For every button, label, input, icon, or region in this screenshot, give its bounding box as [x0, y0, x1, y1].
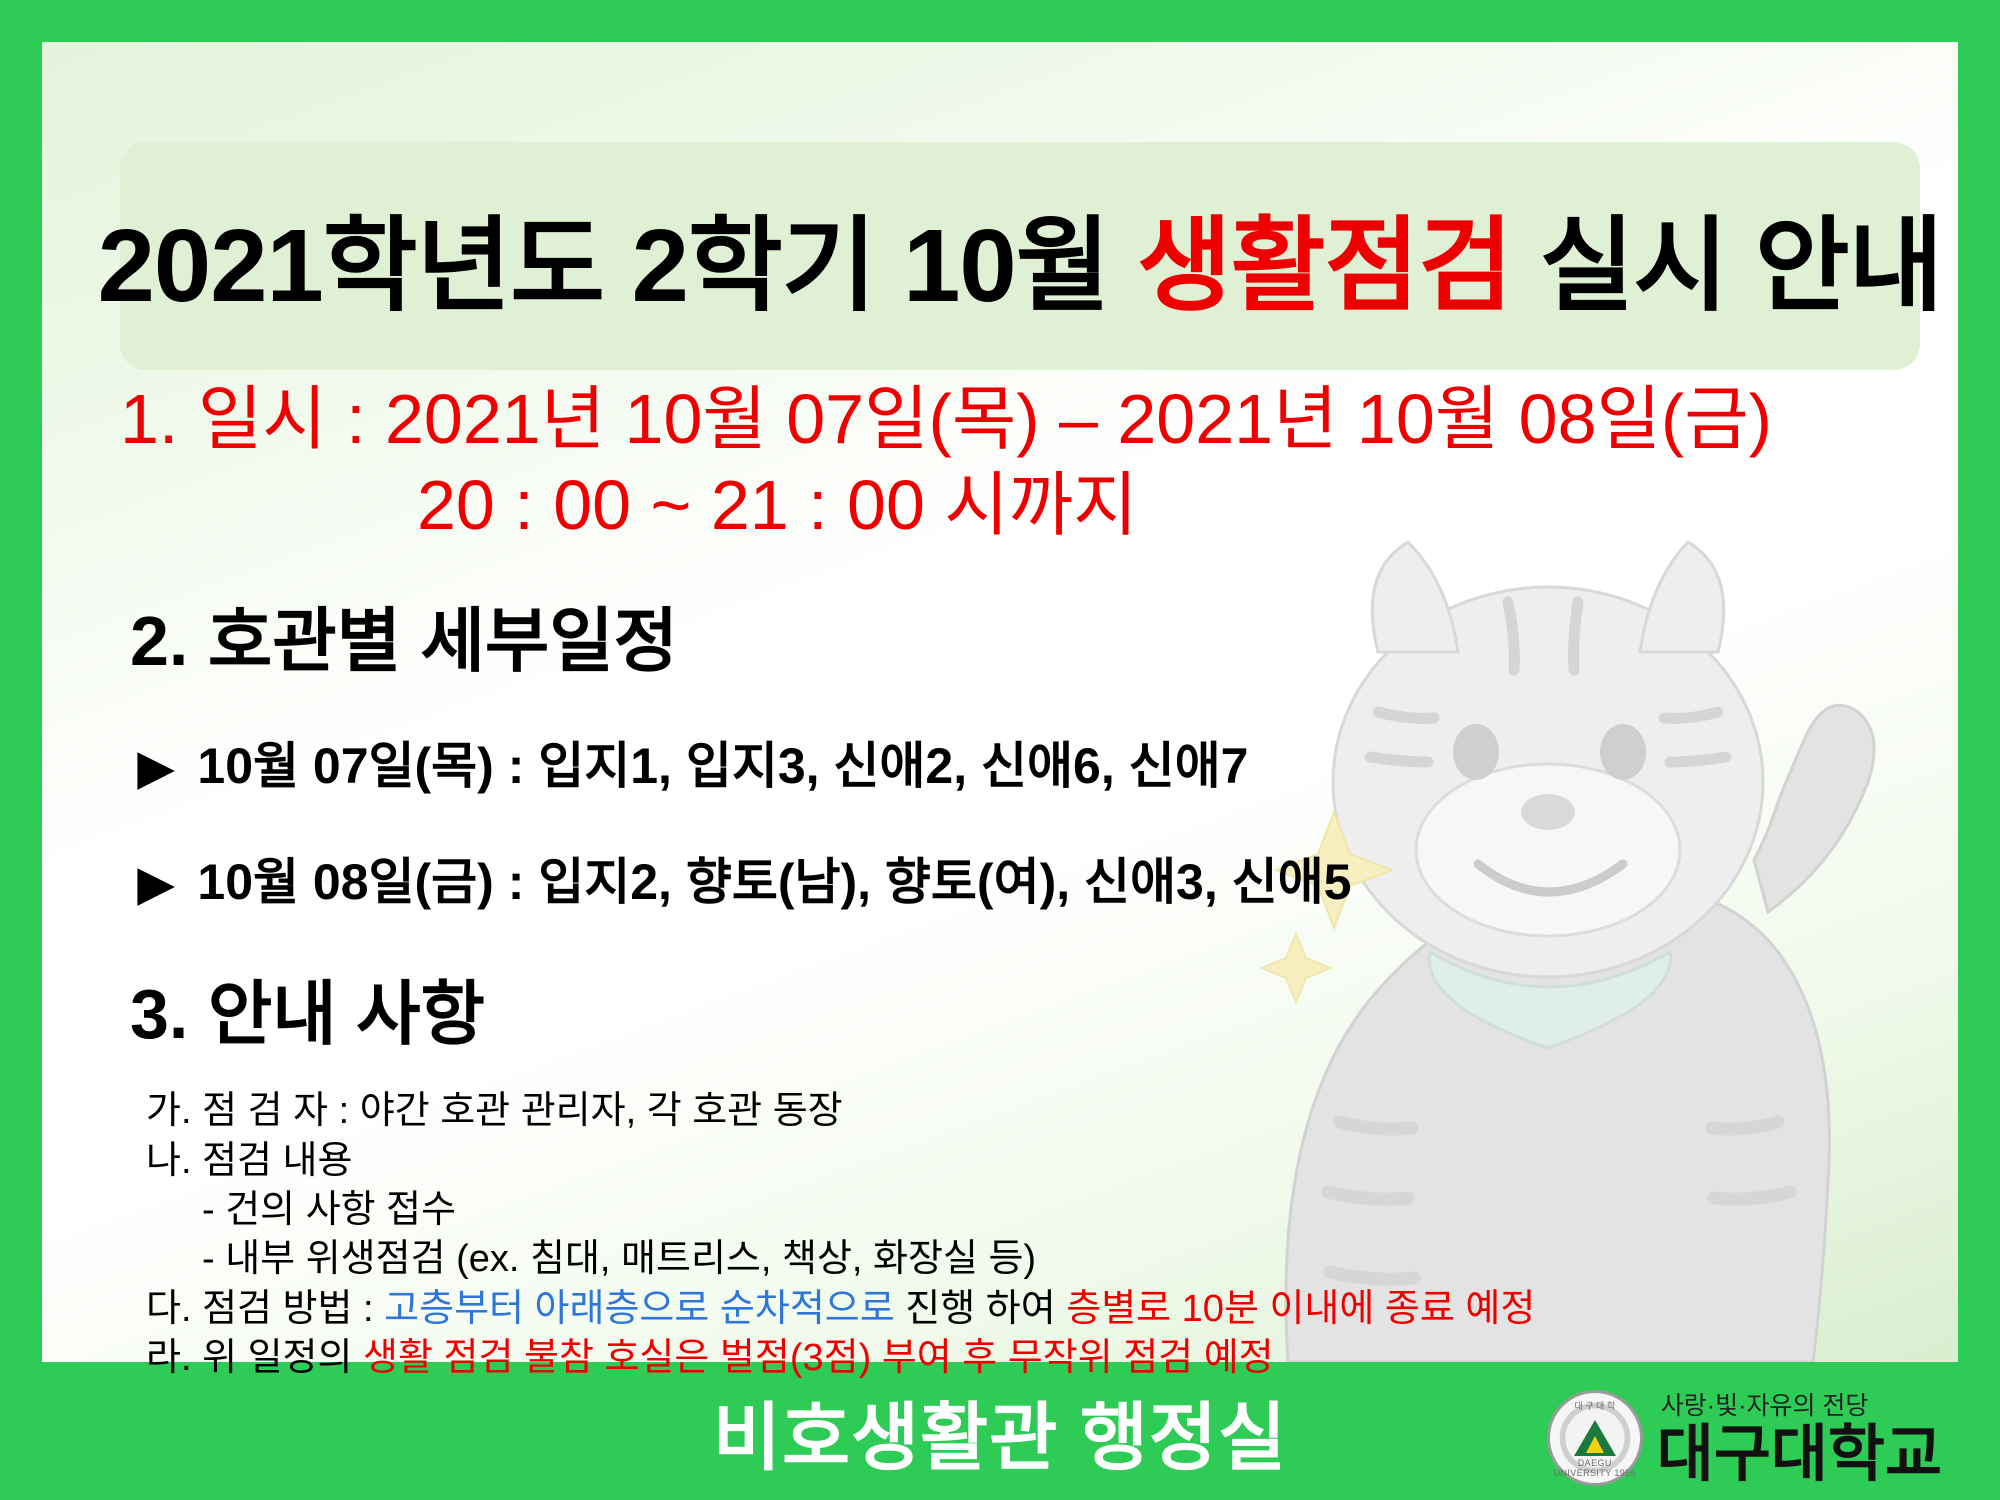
- section2-bullet-2-text: 10월 08일(금) : 입지2, 향토(남), 향토(여), 신애3, 신애5: [197, 842, 1351, 914]
- note-da-middle: 진행 하여: [895, 1288, 1067, 1330]
- seal-text-top: 대 구 대 학: [1550, 1399, 1640, 1412]
- note-na: 나. 점검 내용: [42, 1137, 1958, 1186]
- section1-line1: 1. 일시 : 2021년 10월 07일(목) – 2021년 10월 08일…: [42, 382, 1958, 458]
- note-ga: 가. 점 검 자 : 야간 호관 관리자, 각 호관 동장: [42, 1087, 1958, 1136]
- section3-notes: 가. 점 검 자 : 야간 호관 관리자, 각 호관 동장 나. 점검 내용 -…: [42, 1087, 1958, 1383]
- brand-tagline: 사랑·빛·자유의 전당: [1661, 1386, 1869, 1422]
- university-brand: 대 구 대 학 DAEGU UNIVERSITY 1956 사랑·빛·자유의 전…: [1547, 1386, 1942, 1486]
- note-da-red: 층별로 10분 이내에 종료 예정: [1066, 1288, 1535, 1330]
- poster-root: 2021학년도 2학기 10월 생활점검 실시 안내 1. 일시 : 2021년…: [0, 0, 2000, 1500]
- section2-heading: 2. 호관별 세부일정: [42, 585, 1958, 686]
- section3-heading: 3. 안내 사항: [42, 958, 1958, 1059]
- seal-triangle-logo-icon: [1574, 1420, 1616, 1456]
- title-highlight: 생활점검: [1137, 208, 1512, 323]
- title-prefix: 2021학년도 2학기 10월: [98, 208, 1137, 323]
- section2-bullet-2: ▶ 10월 08일(금) : 입지2, 향토(남), 향토(여), 신애3, 신…: [42, 842, 1958, 914]
- section2-bullet-1: ▶ 10월 07일(목) : 입지1, 입지3, 신애2, 신애6, 신애7: [42, 726, 1958, 798]
- title-banner: 2021학년도 2학기 10월 생활점검 실시 안내: [120, 142, 1920, 370]
- page-title: 2021학년도 2학기 10월 생활점검 실시 안내: [98, 182, 1943, 331]
- title-suffix: 실시 안내: [1512, 208, 1942, 323]
- note-na-sub-1: - 건의 사항 접수: [42, 1186, 1958, 1235]
- seal-text-bottom: DAEGU UNIVERSITY 1956: [1550, 1458, 1640, 1478]
- note-da-prefix: 다. 점검 방법 :: [146, 1288, 384, 1330]
- section1-line2: 20 : 00 ~ 21 : 00 시까지: [42, 468, 1958, 544]
- university-seal-icon: 대 구 대 학 DAEGU UNIVERSITY 1956: [1547, 1390, 1643, 1486]
- triangle-bullet-icon: ▶: [138, 744, 173, 790]
- triangle-bullet-icon: ▶: [138, 860, 173, 906]
- footer-office-name: 비호생활관 행정실: [713, 1378, 1287, 1485]
- note-da: 다. 점검 방법 : 고층부터 아래층으로 순차적으로 진행 하여 층별로 10…: [42, 1285, 1958, 1334]
- note-na-sub-2: - 내부 위생점검 (ex. 침대, 매트리스, 책상, 화장실 등): [42, 1235, 1958, 1284]
- section2-bullet-1-text: 10월 07일(목) : 입지1, 입지3, 신애2, 신애6, 신애7: [197, 726, 1248, 798]
- poster-content: 1. 일시 : 2021년 10월 07일(목) – 2021년 10월 08일…: [42, 382, 1958, 1384]
- brand-wordmark: 사랑·빛·자유의 전당 대구대학교: [1657, 1386, 1942, 1486]
- note-da-blue: 고층부터 아래층으로 순차적으로: [384, 1288, 895, 1330]
- brand-name: 대구대학교: [1657, 1424, 1942, 1486]
- poster-sheet: 2021학년도 2학기 10월 생활점검 실시 안내 1. 일시 : 2021년…: [42, 42, 1958, 1362]
